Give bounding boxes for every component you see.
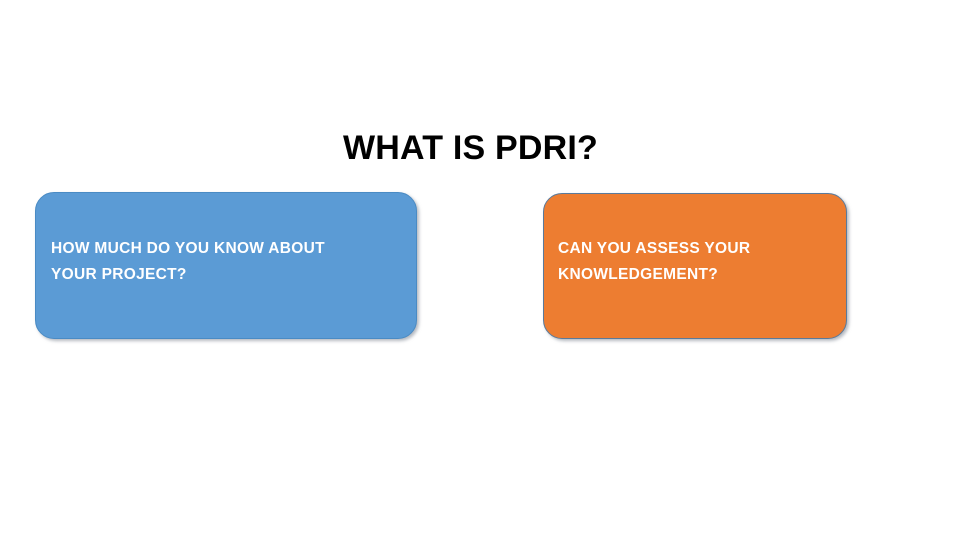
callout-blue-line-2: YOUR PROJECT? (51, 262, 406, 288)
callout-box-orange[interactable]: CAN YOU ASSESS YOUR KNOWLEDGEMENT? (543, 193, 847, 339)
callout-orange-line-2: KNOWLEDGEMENT? (558, 262, 836, 288)
callout-orange-text: CAN YOU ASSESS YOUR KNOWLEDGEMENT? (558, 236, 836, 288)
page-title: WHAT IS PDRI? (0, 128, 941, 168)
callout-blue-text: HOW MUCH DO YOU KNOW ABOUT YOUR PROJECT? (51, 236, 406, 288)
slide-canvas: WHAT IS PDRI? HOW MUCH DO YOU KNOW ABOUT… (0, 0, 961, 540)
callout-blue-line-1: HOW MUCH DO YOU KNOW ABOUT (51, 236, 406, 262)
callout-box-blue[interactable]: HOW MUCH DO YOU KNOW ABOUT YOUR PROJECT? (35, 192, 417, 339)
callout-orange-line-1: CAN YOU ASSESS YOUR (558, 236, 836, 262)
